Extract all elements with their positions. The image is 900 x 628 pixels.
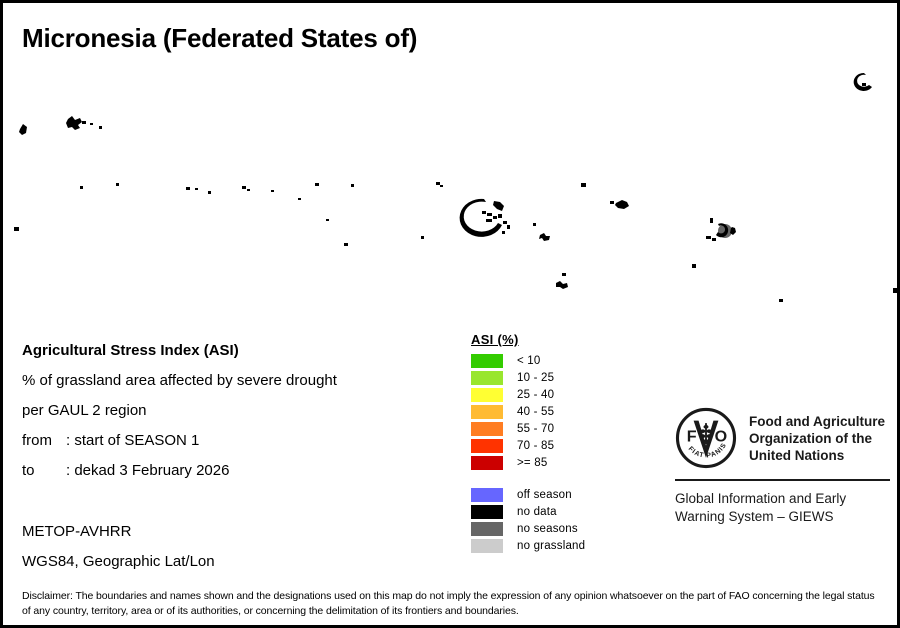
- fao-divider: [675, 479, 890, 481]
- description-line-2: per GAUL 2 region: [22, 396, 442, 426]
- legend-label: < 10: [517, 355, 541, 367]
- disclaimer-text: Disclaimer: The boundaries and names sho…: [22, 589, 882, 619]
- legend-divider-space: [471, 471, 641, 486]
- description-line-1: % of grassland area affected by severe d…: [22, 366, 442, 396]
- legend-label: 55 - 70: [517, 423, 554, 435]
- legend-row[interactable]: < 10: [471, 352, 641, 369]
- period-to-value: : dekad 3 February 2026: [66, 462, 229, 479]
- fao-branding-block: F O FIAT PANIS Food and Agriculture Orga…: [675, 407, 890, 526]
- legend-row-off-season[interactable]: off season: [471, 486, 641, 503]
- period-from-value: : start of SEASON 1: [66, 432, 199, 449]
- legend-row-no-seasons[interactable]: no seasons: [471, 520, 641, 537]
- legend-label: 10 - 25: [517, 372, 554, 384]
- legend-label: 70 - 85: [517, 440, 554, 452]
- description-block: Agricultural Stress Index (ASI) % of gra…: [22, 336, 442, 486]
- period-from-row: from: start of SEASON 1: [22, 426, 442, 456]
- legend-swatch: [471, 371, 503, 385]
- legend-swatch: [471, 522, 503, 536]
- legend-label: 40 - 55: [517, 406, 554, 418]
- map-region-kosrae: [706, 218, 736, 241]
- legend-row[interactable]: 40 - 55: [471, 403, 641, 420]
- fao-organization-name: Food and Agriculture Organization of the…: [749, 413, 885, 464]
- legend: ASI (%) < 10 10 - 25 25 - 40 40 - 55 55 …: [471, 332, 641, 554]
- legend-title: ASI (%): [471, 332, 641, 347]
- legend-row[interactable]: 55 - 70: [471, 420, 641, 437]
- legend-swatch: [471, 422, 503, 436]
- projection-label: WGS84, Geographic Lat/Lon: [22, 547, 215, 577]
- legend-label: 25 - 40: [517, 389, 554, 401]
- legend-swatch: [471, 456, 503, 470]
- legend-swatch: [471, 539, 503, 553]
- period-to-label: to: [22, 456, 66, 486]
- fao-name-line-1: Food and Agriculture: [749, 413, 885, 430]
- sensor-label: METOP-AVHRR: [22, 517, 215, 547]
- map-land-features: [14, 73, 898, 302]
- map-svg: [6, 61, 900, 311]
- legend-label: no seasons: [517, 523, 578, 535]
- legend-row-no-grassland[interactable]: no grassland: [471, 537, 641, 554]
- giews-programme-name: Global Information and Early Warning Sys…: [675, 490, 890, 526]
- period-to-row: to: dekad 3 February 2026: [22, 456, 442, 486]
- legend-row[interactable]: 25 - 40: [471, 386, 641, 403]
- fao-emblem-icon: F O FIAT PANIS: [675, 407, 737, 469]
- legend-swatch: [471, 388, 503, 402]
- map-canvas[interactable]: [6, 61, 900, 311]
- legend-row-no-data[interactable]: no data: [471, 503, 641, 520]
- period-from-label: from: [22, 426, 66, 456]
- legend-swatch: [471, 505, 503, 519]
- fao-name-line-2: Organization of the: [749, 430, 885, 447]
- legend-class-list: < 10 10 - 25 25 - 40 40 - 55 55 - 70 70 …: [471, 352, 641, 471]
- legend-label: >= 85: [517, 457, 547, 469]
- legend-label: no data: [517, 506, 557, 518]
- map-poster: Micronesia (Federated States of): [0, 0, 900, 628]
- fao-logo-row: F O FIAT PANIS Food and Agriculture Orga…: [675, 407, 890, 469]
- giews-line-1: Global Information and Early: [675, 490, 890, 508]
- legend-row[interactable]: >= 85: [471, 454, 641, 471]
- legend-swatch: [471, 354, 503, 368]
- legend-swatch: [471, 405, 503, 419]
- fao-name-line-3: United Nations: [749, 447, 885, 464]
- legend-row[interactable]: 10 - 25: [471, 369, 641, 386]
- source-block: METOP-AVHRR WGS84, Geographic Lat/Lon: [22, 517, 215, 577]
- legend-swatch: [471, 439, 503, 453]
- giews-line-2: Warning System – GIEWS: [675, 508, 890, 526]
- legend-row[interactable]: 70 - 85: [471, 437, 641, 454]
- legend-label: no grassland: [517, 540, 585, 552]
- legend-swatch: [471, 488, 503, 502]
- page-title: Micronesia (Federated States of): [22, 23, 417, 54]
- description-heading: Agricultural Stress Index (ASI): [22, 336, 442, 366]
- legend-special-list: off season no data no seasons no grassla…: [471, 486, 641, 554]
- legend-label: off season: [517, 489, 572, 501]
- svg-text:F: F: [687, 428, 697, 446]
- svg-text:O: O: [715, 428, 728, 446]
